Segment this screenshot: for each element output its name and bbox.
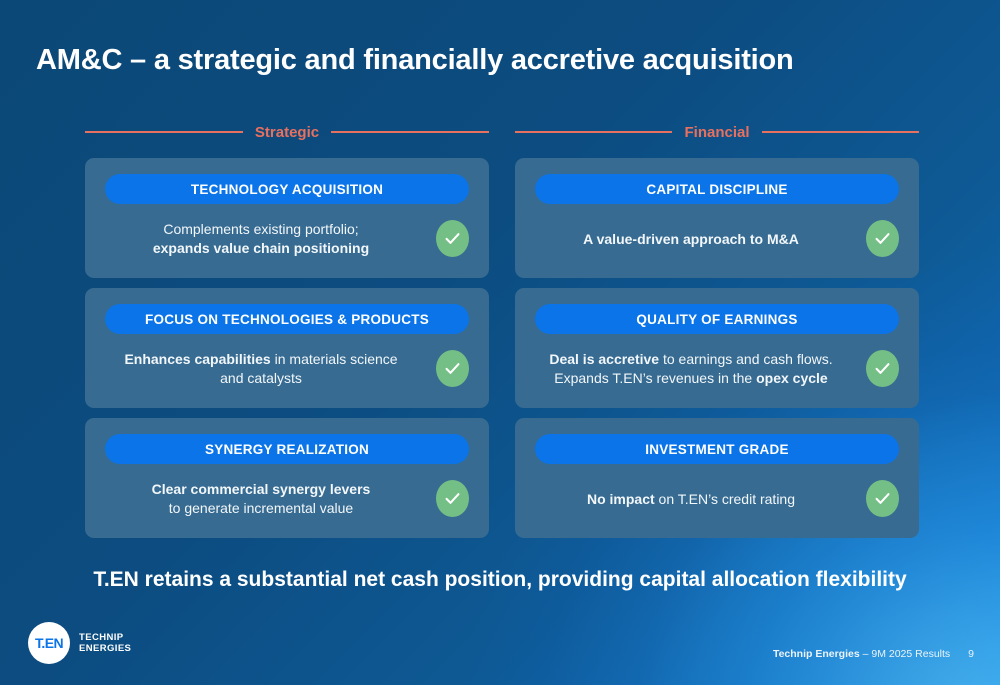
card-header-label: FOCUS ON TECHNOLOGIES & PRODUCTS bbox=[145, 312, 429, 327]
check-icon bbox=[866, 480, 899, 517]
rule-left bbox=[85, 131, 243, 133]
page-number: 9 bbox=[968, 648, 974, 660]
card-text: Clear commercial synergy leversto genera… bbox=[152, 480, 371, 518]
card-header-pill: CAPITAL DISCIPLINE bbox=[535, 174, 899, 204]
card-synergy-realization[interactable]: SYNERGY REALIZATION Clear commercial syn… bbox=[85, 418, 489, 538]
card-body: Clear commercial synergy leversto genera… bbox=[107, 470, 415, 528]
check-icon bbox=[436, 350, 469, 387]
column-heading-label: Strategic bbox=[255, 124, 319, 141]
card-header-pill: QUALITY OF EARNINGS bbox=[535, 304, 899, 334]
card-header-pill: TECHNOLOGY ACQUISITION bbox=[105, 174, 469, 204]
footer-deck: – 9M 2025 Results bbox=[860, 648, 950, 660]
card-header-label: QUALITY OF EARNINGS bbox=[636, 312, 797, 327]
card-text: A value-driven approach to M&A bbox=[583, 230, 799, 249]
footer-deck-label: Technip Energies – 9M 2025 Results bbox=[773, 648, 950, 660]
card-header-pill: INVESTMENT GRADE bbox=[535, 434, 899, 464]
logo-wordmark-line1: TECHNIP bbox=[79, 632, 131, 643]
card-text: Deal is accretive to earnings and cash f… bbox=[549, 350, 832, 388]
card-body: No impact on T.EN’s credit rating bbox=[537, 470, 845, 528]
column-heading-financial: Financial bbox=[515, 120, 919, 144]
logo-wordmark-line2: ENERGIES bbox=[79, 643, 131, 654]
card-capital-discipline[interactable]: CAPITAL DISCIPLINE A value-driven approa… bbox=[515, 158, 919, 278]
logo-mark-label: T.EN bbox=[35, 635, 63, 651]
column-heading-label: Financial bbox=[684, 124, 749, 141]
card-text: No impact on T.EN’s credit rating bbox=[587, 490, 795, 509]
rule-left bbox=[515, 131, 672, 133]
card-header-pill: SYNERGY REALIZATION bbox=[105, 434, 469, 464]
logo: T.EN TECHNIP ENERGIES bbox=[28, 622, 131, 664]
check-icon bbox=[436, 480, 469, 517]
card-body: Enhances capabilities in materials scien… bbox=[107, 340, 415, 398]
footer-attribution: Technip Energies – 9M 2025 Results 9 bbox=[773, 648, 974, 660]
card-header-label: SYNERGY REALIZATION bbox=[205, 442, 369, 457]
column-heading-strategic: Strategic bbox=[85, 120, 489, 144]
card-header-label: TECHNOLOGY ACQUISITION bbox=[191, 182, 383, 197]
slide: AM&C – a strategic and financially accre… bbox=[0, 0, 1000, 685]
card-technology-acquisition[interactable]: TECHNOLOGY ACQUISITION Complements exist… bbox=[85, 158, 489, 278]
card-header-label: INVESTMENT GRADE bbox=[645, 442, 789, 457]
page-title: AM&C – a strategic and financially accre… bbox=[36, 44, 794, 77]
card-text: Complements existing portfolio;expands v… bbox=[153, 220, 369, 258]
card-focus-on-technologies-products[interactable]: FOCUS ON TECHNOLOGIES & PRODUCTS Enhance… bbox=[85, 288, 489, 408]
footer-brand: Technip Energies bbox=[773, 648, 860, 660]
card-body: A value-driven approach to M&A bbox=[537, 210, 845, 268]
logo-mark-icon: T.EN bbox=[28, 622, 70, 664]
check-icon bbox=[866, 220, 899, 257]
card-investment-grade[interactable]: INVESTMENT GRADE No impact on T.EN’s cre… bbox=[515, 418, 919, 538]
card-body: Complements existing portfolio;expands v… bbox=[107, 210, 415, 268]
check-icon bbox=[436, 220, 469, 257]
card-header-pill: FOCUS ON TECHNOLOGIES & PRODUCTS bbox=[105, 304, 469, 334]
summary-statement: T.EN retains a substantial net cash posi… bbox=[0, 568, 1000, 592]
rule-right bbox=[331, 131, 489, 133]
card-text: Enhances capabilities in materials scien… bbox=[124, 350, 397, 388]
check-icon bbox=[866, 350, 899, 387]
card-quality-of-earnings[interactable]: QUALITY OF EARNINGS Deal is accretive to… bbox=[515, 288, 919, 408]
rule-right bbox=[762, 131, 919, 133]
card-header-label: CAPITAL DISCIPLINE bbox=[646, 182, 787, 197]
logo-wordmark: TECHNIP ENERGIES bbox=[79, 632, 131, 654]
card-body: Deal is accretive to earnings and cash f… bbox=[537, 340, 845, 398]
